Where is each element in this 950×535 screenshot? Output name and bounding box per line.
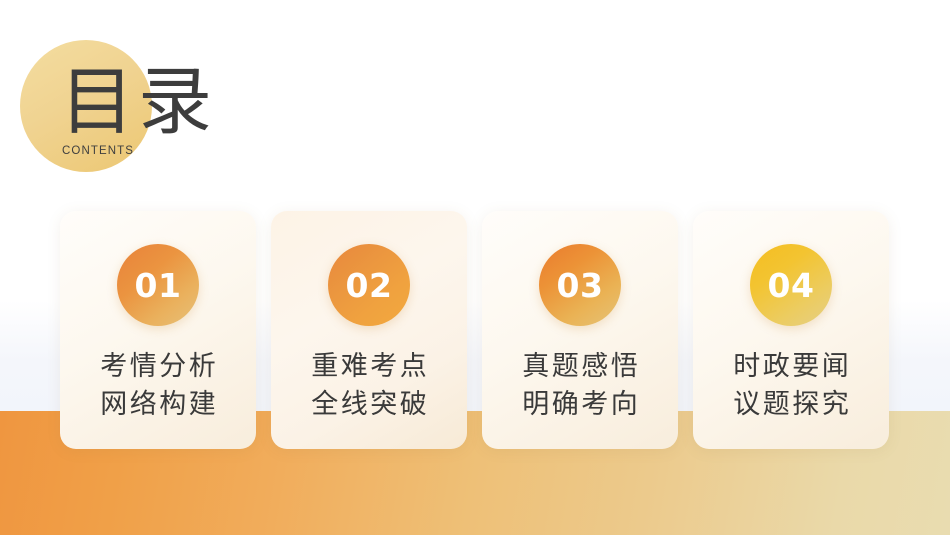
card-label-line1: 真题感悟 xyxy=(482,348,678,386)
contents-card-02[interactable]: 02 重难考点 全线突破 xyxy=(271,211,467,449)
number-badge-label: 01 xyxy=(135,269,182,302)
contents-card-list: 01 考情分析 网络构建 02 重难考点 全线突破 03 真题感悟 明确考向 xyxy=(0,0,950,535)
number-badge-02: 02 xyxy=(328,244,410,326)
card-label-line1: 时政要闻 xyxy=(693,348,889,386)
contents-slide: 目录 CONTENTS 01 考情分析 网络构建 02 重难考点 全线突破 03 xyxy=(0,0,950,535)
card-label-02: 重难考点 全线突破 xyxy=(271,348,467,424)
contents-card-01[interactable]: 01 考情分析 网络构建 xyxy=(60,211,256,449)
card-label-01: 考情分析 网络构建 xyxy=(60,348,256,424)
number-badge-label: 03 xyxy=(557,269,604,302)
number-badge-03: 03 xyxy=(539,244,621,326)
card-label-line2: 议题探究 xyxy=(693,386,889,424)
number-badge-01: 01 xyxy=(117,244,199,326)
contents-card-03[interactable]: 03 真题感悟 明确考向 xyxy=(482,211,678,449)
card-label-line1: 重难考点 xyxy=(271,348,467,386)
card-label-line2: 明确考向 xyxy=(482,386,678,424)
card-label-line2: 网络构建 xyxy=(60,386,256,424)
card-label-line1: 考情分析 xyxy=(60,348,256,386)
number-badge-label: 04 xyxy=(768,269,815,302)
number-badge-04: 04 xyxy=(750,244,832,326)
card-label-03: 真题感悟 明确考向 xyxy=(482,348,678,424)
number-badge-label: 02 xyxy=(346,269,393,302)
card-label-line2: 全线突破 xyxy=(271,386,467,424)
contents-card-04[interactable]: 04 时政要闻 议题探究 xyxy=(693,211,889,449)
card-label-04: 时政要闻 议题探究 xyxy=(693,348,889,424)
